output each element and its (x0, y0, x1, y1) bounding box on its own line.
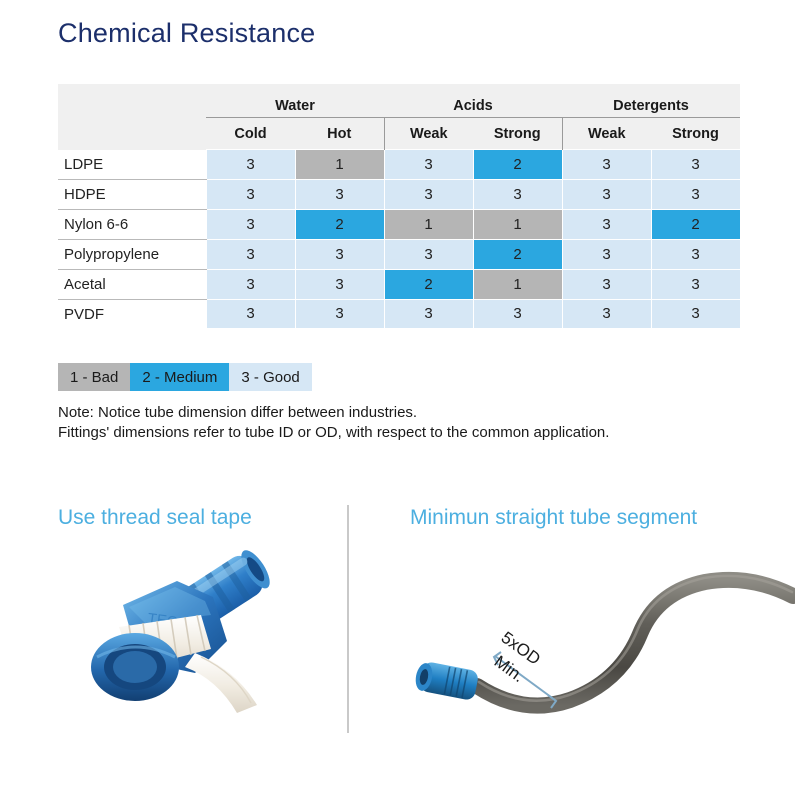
group-header-detergents: Detergents (562, 84, 740, 118)
row-label: LDPE (58, 150, 206, 180)
cell: 3 (206, 239, 295, 269)
cell: 3 (384, 150, 473, 180)
table-row: Acetal 3 3 2 1 3 3 (58, 269, 740, 299)
cell: 3 (295, 299, 384, 329)
table-body: LDPE 3 1 3 2 3 3 HDPE 3 3 3 3 3 3 Nylon … (58, 150, 740, 329)
rating-legend: 1 - Bad 2 - Medium 3 - Good (58, 363, 312, 391)
page-title: Chemical Resistance (58, 18, 315, 49)
table-row: HDPE 3 3 3 3 3 3 (58, 179, 740, 209)
cell: 3 (295, 269, 384, 299)
cell: 3 (384, 239, 473, 269)
table-row: Polypropylene 3 3 3 2 3 3 (58, 239, 740, 269)
subheader-water-cold: Cold (206, 118, 295, 150)
cell: 3 (562, 239, 651, 269)
row-label: HDPE (58, 179, 206, 209)
cell: 3 (295, 239, 384, 269)
subheader-acids-strong: Strong (473, 118, 562, 150)
cell: 2 (473, 150, 562, 180)
table-row: Nylon 6-6 3 2 1 1 3 2 (58, 209, 740, 239)
row-label: Acetal (58, 269, 206, 299)
subheader-detergents-weak: Weak (562, 118, 651, 150)
row-label: PVDF (58, 299, 206, 329)
table-row: PVDF 3 3 3 3 3 3 (58, 299, 740, 329)
cell: 3 (562, 150, 651, 180)
cell: 1 (473, 269, 562, 299)
note-line-1: Note: Notice tube dimension differ betwe… (58, 403, 788, 423)
cell: 3 (206, 299, 295, 329)
cell: 2 (295, 209, 384, 239)
note-line-2: Fittings' dimensions refer to tube ID or… (58, 423, 788, 443)
cell: 3 (384, 179, 473, 209)
subheader-detergents-strong: Strong (651, 118, 740, 150)
cell: 3 (562, 209, 651, 239)
cell: 3 (473, 299, 562, 329)
cell: 3 (295, 179, 384, 209)
note-block: Note: Notice tube dimension differ betwe… (58, 403, 788, 443)
legend-item-bad: 1 - Bad (58, 363, 130, 391)
cell: 3 (651, 179, 740, 209)
cell: 3 (206, 209, 295, 239)
cell: 3 (651, 299, 740, 329)
chemical-resistance-table: Water Acids Detergents Cold Hot Weak Str… (58, 84, 740, 329)
subheader-water-hot: Hot (295, 118, 384, 150)
legend-item-medium: 2 - Medium (130, 363, 229, 391)
table-subheader-row: Cold Hot Weak Strong Weak Strong (58, 118, 740, 150)
cell: 2 (651, 209, 740, 239)
fitting-with-seal-tape-image: TEC (85, 545, 340, 730)
table-group-header-row: Water Acids Detergents (58, 84, 740, 118)
panel-divider (347, 505, 349, 733)
legend-item-good: 3 - Good (229, 363, 311, 391)
cell: 3 (651, 150, 740, 180)
row-label: Nylon 6-6 (58, 209, 206, 239)
panel-heading-thread-seal-tape: Use thread seal tape (58, 506, 252, 530)
cell: 3 (651, 239, 740, 269)
cell: 3 (206, 179, 295, 209)
subheader-acids-weak: Weak (384, 118, 473, 150)
cell: 3 (206, 150, 295, 180)
cell: 2 (473, 239, 562, 269)
cell: 3 (206, 269, 295, 299)
cell: 3 (384, 299, 473, 329)
cell: 1 (473, 209, 562, 239)
fitting-illustration: TEC (85, 545, 340, 730)
group-header-blank (58, 84, 206, 118)
straight-tube-segment-image: 5xOD Min. (405, 548, 795, 733)
group-header-water: Water (206, 84, 384, 118)
threaded-end (91, 633, 179, 701)
cell: 2 (384, 269, 473, 299)
cell: 3 (562, 299, 651, 329)
row-label: Polypropylene (58, 239, 206, 269)
cell: 3 (651, 269, 740, 299)
panel-heading-straight-tube: Minimun straight tube segment (410, 506, 697, 530)
group-header-acids: Acids (384, 84, 562, 118)
tube-illustration: 5xOD Min. (405, 548, 795, 733)
cell: 3 (473, 179, 562, 209)
cell: 1 (384, 209, 473, 239)
subheader-blank (58, 118, 206, 150)
cell: 3 (562, 179, 651, 209)
cell: 1 (295, 150, 384, 180)
table-row: LDPE 3 1 3 2 3 3 (58, 150, 740, 180)
cell: 3 (562, 269, 651, 299)
tube-fitting (413, 661, 479, 701)
